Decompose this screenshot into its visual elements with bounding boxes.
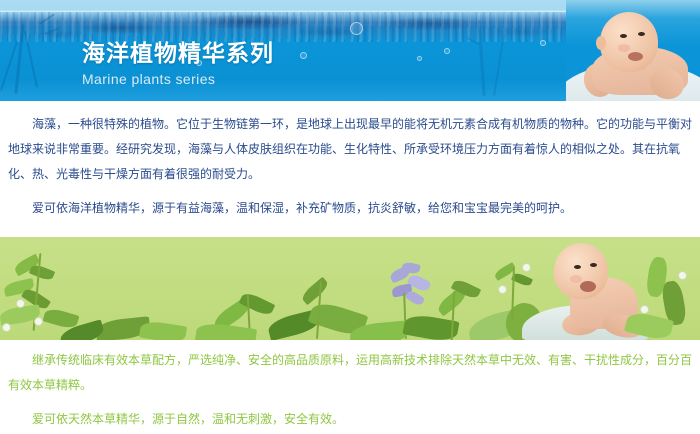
- herbal-paragraph-2: 爱可依天然本草精华，源于自然，温和无刺激，安全有效。: [8, 407, 692, 432]
- marine-title-block: 海洋植物精华系列 Marine plants series: [82, 40, 274, 89]
- bubble-icon: [444, 48, 450, 54]
- herbal-paragraph-1: 继承传统临床有效本草配方，严选纯净、安全的高品质原料，运用高新技术排除天然本草中…: [8, 348, 692, 398]
- marine-series-banner: 海洋植物精华系列 Marine plants series: [0, 0, 700, 101]
- flower-icon: [522, 263, 531, 272]
- flower-icon: [678, 271, 687, 280]
- baby-head: [600, 12, 658, 72]
- baby-eye-left: [620, 34, 627, 38]
- baby-eye-right: [590, 263, 597, 267]
- leaf-icon: [300, 277, 331, 305]
- product-series-page: 海洋植物精华系列 Marine plants series 海藻，一种很特殊的植…: [0, 0, 700, 434]
- marine-title-cn: 海洋植物精华系列: [82, 40, 274, 68]
- bubble-icon: [300, 52, 307, 59]
- baby-head: [554, 243, 608, 299]
- leaf-icon: [139, 320, 187, 340]
- baby-cheek: [570, 275, 582, 283]
- herbal-series-banner: 天然本草系列 Natural herbal series: [0, 237, 700, 340]
- herbal-description-block: 继承传统临床有效本草配方，严选纯净、安全的高品质原料，运用高新技术排除天然本草中…: [8, 348, 692, 432]
- marine-paragraph-1: 海藻，一种很特殊的植物。它位于生物链第一环，是地球上出现最早的能将无机元素合成有…: [8, 112, 692, 187]
- bubble-icon: [540, 40, 546, 46]
- flower-icon: [16, 299, 25, 308]
- baby-eye-right: [638, 32, 645, 36]
- baby-mouth: [580, 281, 596, 292]
- baby-mouth: [628, 52, 643, 61]
- paragraph-spacer: [8, 187, 692, 196]
- flower-icon: [640, 305, 649, 314]
- flower-icon: [34, 317, 43, 326]
- flower-icon: [2, 323, 11, 332]
- marine-title-en: Marine plants series: [82, 70, 274, 89]
- marine-description-block: 海藻，一种很特殊的植物。它位于生物链第一环，是地球上出现最早的能将无机元素合成有…: [8, 112, 692, 221]
- paragraph-spacer: [8, 398, 692, 407]
- baby-cheek: [618, 44, 630, 52]
- flower-icon: [498, 285, 507, 294]
- rosemary-flower-icon: [388, 263, 434, 307]
- baby-eye-left: [574, 265, 581, 269]
- bubble-icon: [350, 22, 363, 35]
- marine-paragraph-2: 爱可依海洋植物精华，源于有益海藻，温和保湿，补充矿物质，抗炎舒敏，给您和宝宝最完…: [8, 196, 692, 221]
- bubble-icon: [417, 56, 422, 61]
- marine-baby-photo: [566, 0, 700, 101]
- baby-ear: [596, 36, 606, 50]
